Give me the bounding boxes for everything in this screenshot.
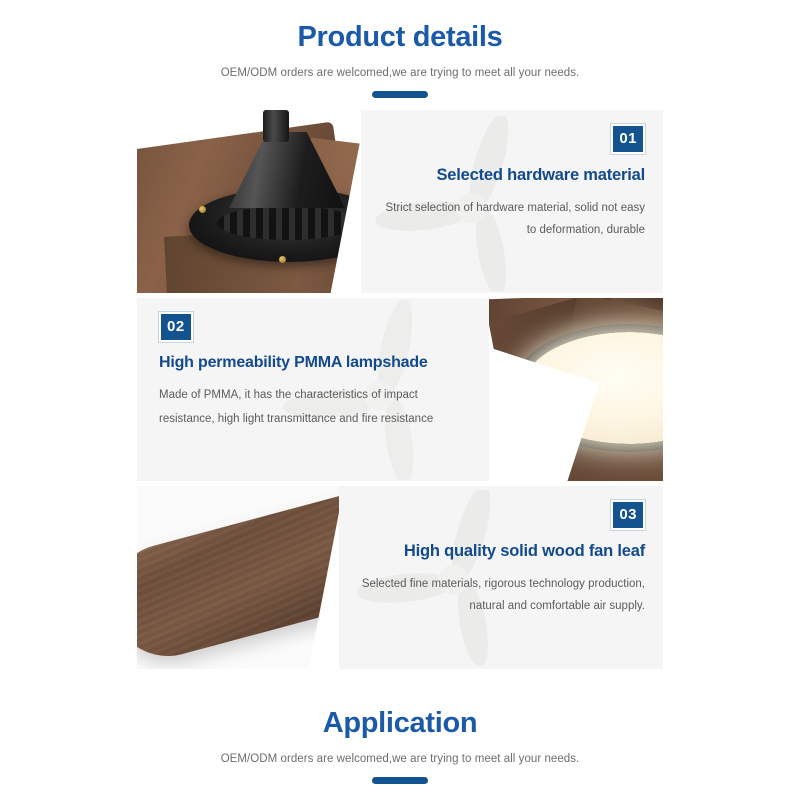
- page-subtitle: OEM/ODM orders are welcomed,we are tryin…: [0, 67, 800, 79]
- feature-text-02: 02 High permeability PMMA lampshade Made…: [137, 298, 489, 481]
- feature-image-02: [489, 298, 663, 481]
- feature-description: Selected fine materials, rigorous techno…: [357, 573, 645, 618]
- application-title: Application: [0, 708, 800, 740]
- feature-title: Selected hardware material: [379, 165, 645, 186]
- application-subtitle: OEM/ODM orders are welcomed,we are tryin…: [0, 753, 800, 765]
- ceiling-fan-motor-housing-photo: [137, 110, 361, 293]
- feature-number-badge: 02: [159, 312, 193, 342]
- feature-row-03: 03 High quality solid wood fan leaf Sele…: [137, 486, 663, 669]
- feature-image-01: [137, 110, 361, 293]
- feature-image-03: [137, 486, 339, 669]
- feature-rows: 01 Selected hardware material Strict sel…: [137, 110, 663, 674]
- page-title: Product details: [0, 22, 800, 54]
- feature-number-badge: 03: [611, 500, 645, 530]
- feature-description: Made of PMMA, it has the characteristics…: [159, 384, 471, 431]
- application-header: Application OEM/ODM orders are welcomed,…: [0, 708, 800, 784]
- feature-number-badge: 01: [611, 124, 645, 154]
- title-underline-bar: [372, 91, 428, 98]
- product-details-header: Product details OEM/ODM orders are welco…: [0, 22, 800, 98]
- feature-row-02: 02 High permeability PMMA lampshade Made…: [137, 298, 663, 481]
- feature-title: High permeability PMMA lampshade: [159, 353, 471, 373]
- feature-text-03: 03 High quality solid wood fan leaf Sele…: [339, 486, 663, 669]
- ceiling-fan-lampshade-photo: [489, 298, 663, 481]
- feature-row-01: 01 Selected hardware material Strict sel…: [137, 110, 663, 293]
- product-details-page: Product details OEM/ODM orders are welco…: [0, 0, 800, 800]
- feature-description: Strict selection of hardware material, s…: [379, 197, 645, 242]
- solid-wood-fan-blade-photo: [137, 486, 339, 669]
- application-underline-bar: [372, 777, 428, 784]
- feature-title: High quality solid wood fan leaf: [357, 541, 645, 562]
- feature-text-01: 01 Selected hardware material Strict sel…: [361, 110, 663, 293]
